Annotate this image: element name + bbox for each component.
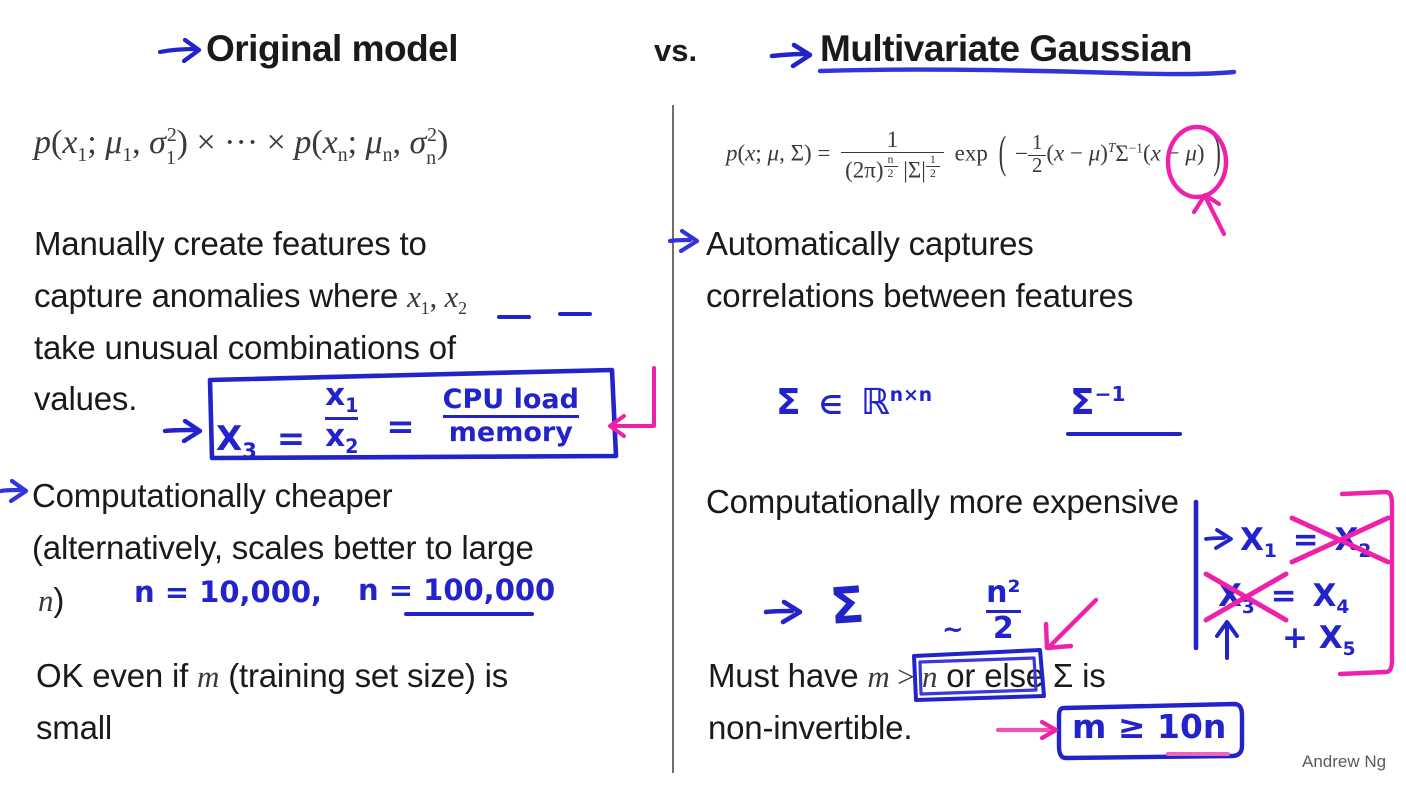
right-formula-frac-denominator: (2π)n2 |Σ|12 — [841, 152, 944, 183]
sigma-inverse-underline-annotation — [1066, 432, 1182, 436]
x2-underline-annotation — [558, 312, 592, 316]
slide-canvas: Original model vs. Multivariate Gaussian… — [0, 0, 1406, 789]
frac2-numerator: CPU load — [443, 386, 579, 413]
n-values-handwriting-second: n = 100,000 — [358, 573, 555, 607]
left-bullet3-line2: small — [36, 702, 676, 754]
frac1-numerator: x1 — [325, 380, 358, 415]
vs-separator: vs. — [654, 33, 697, 69]
right-bullet2-line1: Computationally more expensive — [706, 476, 1396, 528]
pink-arrow-to-boxed-mn-icon — [1028, 596, 1104, 658]
left-bullet1-line3: take unusual combinations of — [34, 322, 674, 374]
presenter-signature: Andrew Ng — [1302, 752, 1386, 772]
boxed-equation-handwriting: X3 = x1 x2 = CPU load memory — [216, 376, 579, 453]
blue-arrow-to-sigma-squiggle-icon — [764, 600, 820, 628]
x1-underline-annotation — [497, 315, 531, 319]
n-100000-underline-annotation — [404, 612, 534, 616]
left-formula: p(x1; μ1, σ12) × ··· × p(xn; μn, σn2) — [34, 124, 448, 162]
complexity-numerator: n² — [986, 578, 1021, 608]
degenerate-feature-line1: X1 = X2 — [1240, 522, 1371, 562]
sigma-squiggle-handwriting: Σ — [828, 576, 866, 636]
blue-arrow-title-left-icon — [158, 36, 210, 66]
n-values-handwriting-first: n = 10,000, — [134, 575, 322, 609]
ten-n-pink-underline-annotation — [1166, 752, 1230, 756]
complexity-denominator: 2 — [986, 610, 1021, 644]
degenerate-feature-line2: X3 = X4 — [1218, 578, 1349, 618]
left-bullet2-line2: (alternatively, scales better to large — [32, 522, 680, 574]
right-bullet-must-have: Must have m > n or else Σ is non-inverti… — [708, 650, 1398, 754]
left-bullet-cheaper: Computationally cheaper (alternatively, … — [32, 470, 680, 625]
boxed-rule-handwriting: m ≥ 10n — [1072, 707, 1226, 746]
left-bullet3-line1: OK even if m (training set size) is — [36, 650, 676, 702]
frac2-denominator: memory — [443, 415, 579, 446]
left-bullet2-line1: Computationally cheaper — [32, 470, 680, 522]
right-formula: p(x; μ, Σ) = 1 (2π)n2 |Σ|12 exp ( −12(x … — [726, 128, 1221, 183]
right-bullet-auto-correlations: Automatically captures correlations betw… — [706, 218, 1396, 322]
right-bullet3-line1: Must have m > n or else Σ is — [708, 650, 1398, 702]
left-bullet1-line1: Manually create features to — [34, 218, 674, 270]
complexity-handwriting: ~ n² 2 — [942, 578, 1021, 644]
left-bullet-ok-small-m: OK even if m (training set size) is smal… — [36, 650, 676, 754]
right-bullet1-line2: correlations between features — [706, 270, 1396, 322]
right-formula-frac-numerator: 1 — [841, 128, 944, 152]
right-bullet3-line2: non-invertible. — [708, 702, 1398, 754]
blue-arrow-cheaper-icon — [0, 479, 36, 507]
page-title-left: Original model — [206, 28, 458, 70]
page-title-right: Multivariate Gaussian — [820, 28, 1192, 70]
right-bullet-more-expensive: Computationally more expensive — [706, 476, 1396, 528]
blue-arrow-auto-captures-icon — [668, 228, 710, 256]
left-bullet2-line3: n) — [32, 574, 680, 626]
frac1-denominator: x2 — [325, 417, 358, 456]
sigma-inverse-handwriting: Σ−1 — [1070, 382, 1126, 423]
blue-arrow-title-right-icon — [770, 42, 826, 74]
right-bullet1-line1: Automatically captures — [706, 218, 1396, 270]
sigma-space-handwriting: Σ ∈ ℝn×n — [776, 382, 932, 423]
